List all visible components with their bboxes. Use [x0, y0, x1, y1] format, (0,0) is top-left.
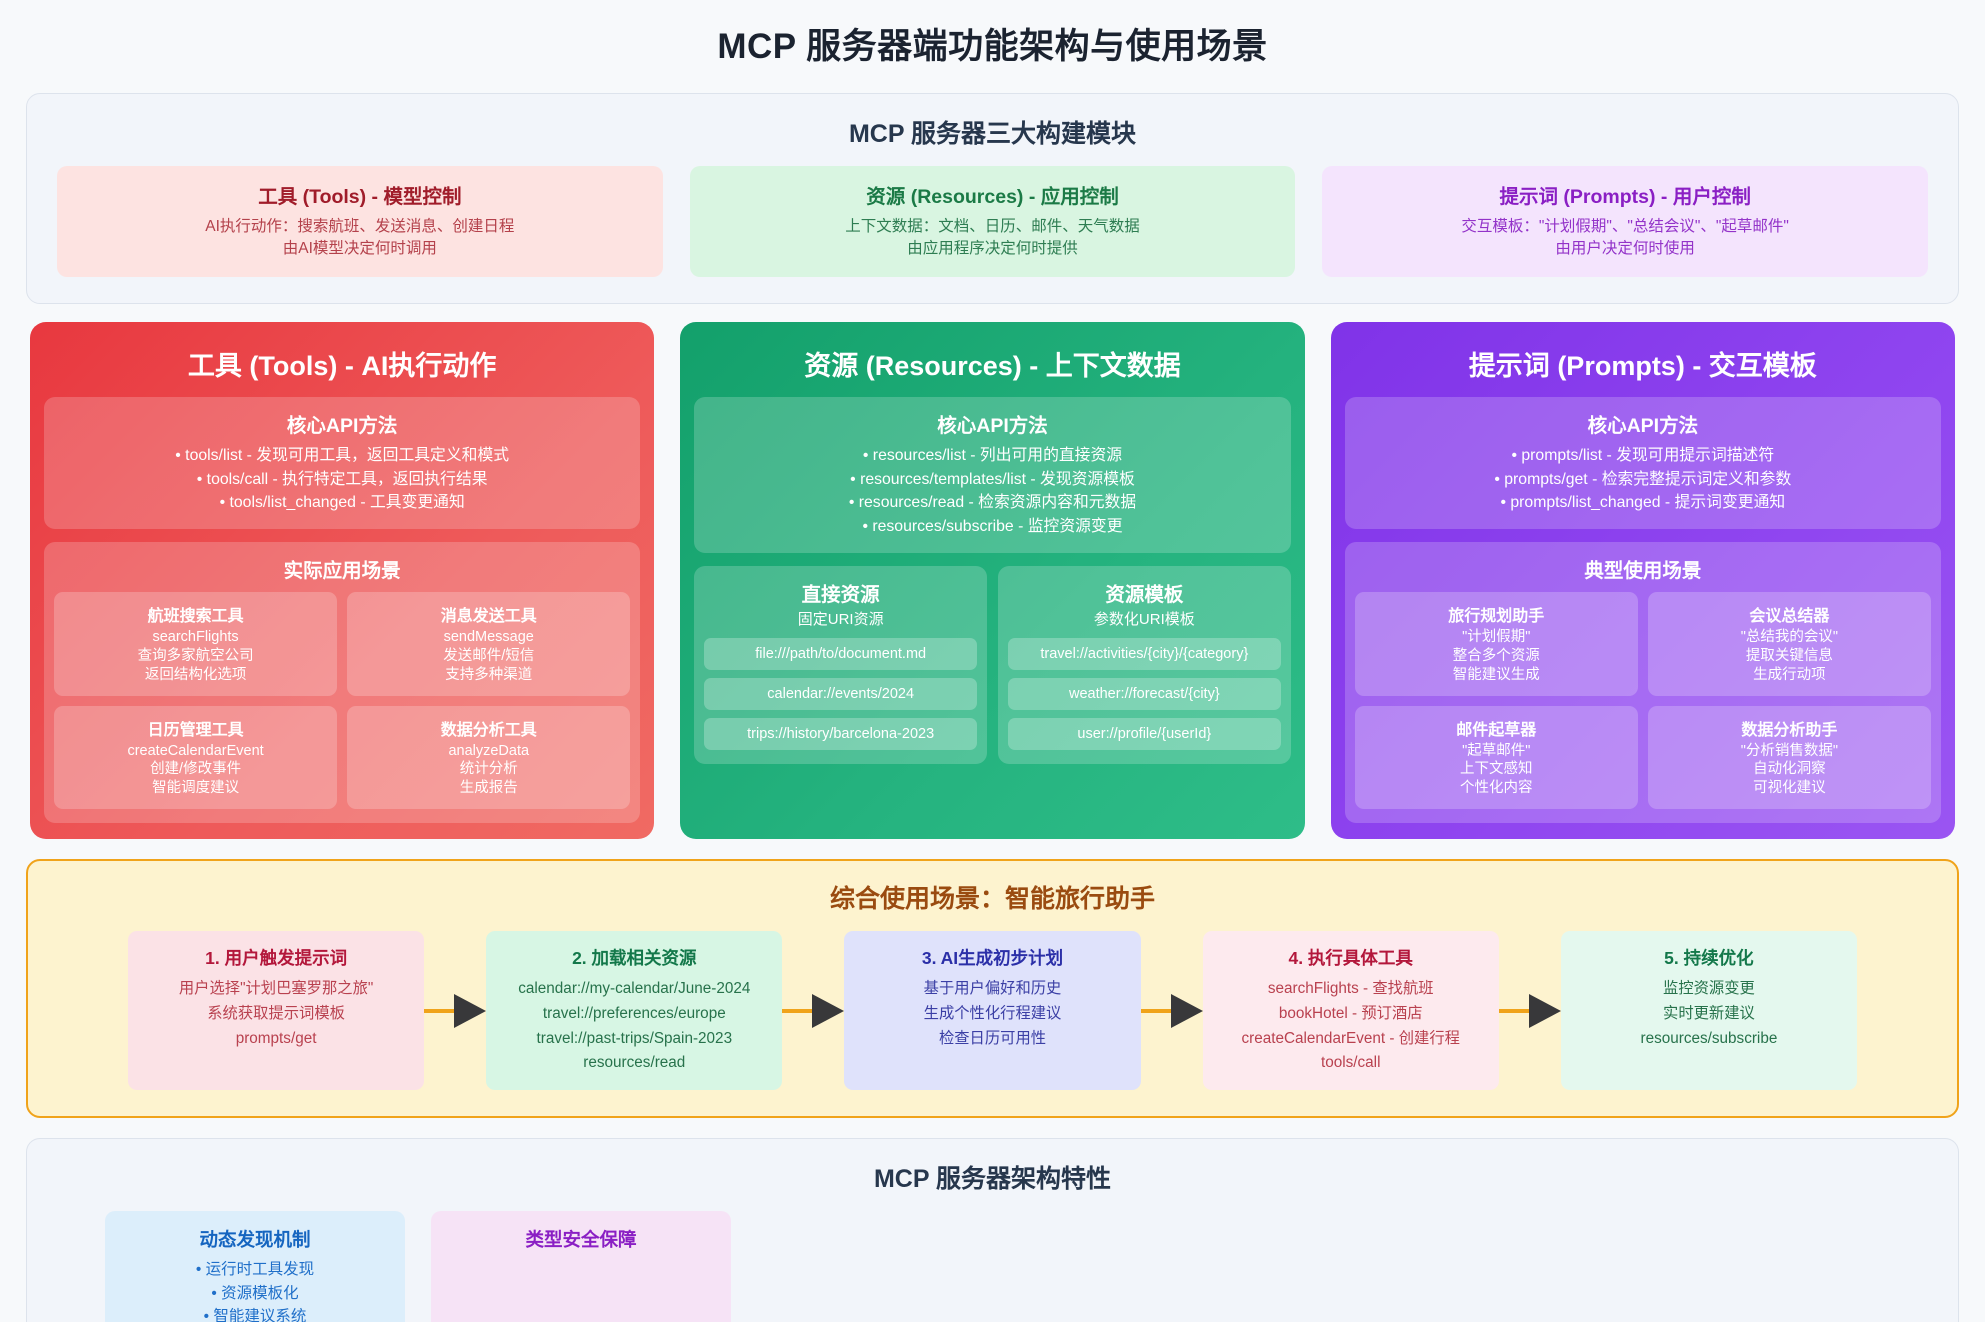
resources-api-item: • resources/subscribe - 监控资源变更	[704, 515, 1280, 539]
building-blocks-panel: MCP 服务器三大构建模块 工具 (Tools) - 模型控制 AI执行动作：搜…	[26, 93, 1959, 304]
tools-api-item: • tools/call - 执行特定工具，返回执行结果	[54, 468, 630, 492]
flow-panel: 综合使用场景：智能旅行助手 1. 用户触发提示词 用户选择"计划巴塞罗那之旅" …	[26, 859, 1959, 1118]
building-block-prompts: 提示词 (Prompts) - 用户控制 交互模板："计划假期"、"总结会议"、…	[1322, 166, 1928, 277]
scenario-title: 日历管理工具	[60, 716, 331, 740]
diagram-page: MCP 服务器端功能架构与使用场景 MCP 服务器三大构建模块 工具 (Tool…	[0, 0, 1985, 1322]
scenario-line: createCalendarEvent	[60, 742, 331, 761]
scenario-line: 返回结构化选项	[60, 666, 331, 685]
building-block-resources-title: 资源 (Resources) - 应用控制	[700, 180, 1286, 209]
flow-step-title: 3. AI生成初步计划	[852, 945, 1132, 970]
tools-api-list: • tools/list - 发现可用工具，返回工具定义和模式 • tools/…	[54, 444, 630, 515]
scenario-line: 生成报告	[353, 779, 624, 798]
scenario-line: 支持多种渠道	[353, 666, 624, 685]
flow-step-line: prompts/get	[136, 1027, 416, 1052]
resource-templates-panel: 资源模板 参数化URI模板 travel://activities/{city}…	[998, 566, 1291, 764]
scenario-title: 数据分析工具	[353, 716, 624, 740]
feature-card-dynamic-discovery: 动态发现机制 • 运行时工具发现 • 资源模板化 • 智能建议系统	[105, 1211, 405, 1322]
direct-resources-panel: 直接资源 固定URI资源 file:///path/to/document.md…	[694, 566, 987, 764]
flow-step-1: 1. 用户触发提示词 用户选择"计划巴塞罗那之旅" 系统获取提示词模板 prom…	[128, 931, 424, 1090]
flow-step-title: 1. 用户触发提示词	[136, 945, 416, 970]
column-tools: 工具 (Tools) - AI执行动作 核心API方法 • tools/list…	[30, 322, 654, 839]
flow-step-5: 5. 持续优化 监控资源变更 实时更新建议 resources/subscrib…	[1561, 931, 1857, 1090]
uri-chip: weather://forecast/{city}	[1008, 678, 1281, 710]
column-prompts-title: 提示词 (Prompts) - 交互模板	[1345, 336, 1941, 397]
scenario-line: "总结我的会议"	[1654, 628, 1925, 647]
scenario-card: 日历管理工具 createCalendarEvent 创建/修改事件 智能调度建…	[54, 706, 337, 810]
column-resources-title: 资源 (Resources) - 上下文数据	[694, 336, 1290, 397]
scenario-card: 数据分析工具 analyzeData 统计分析 生成报告	[347, 706, 630, 810]
building-block-tools-line1: AI执行动作：搜索航班、发送消息、创建日程	[67, 216, 653, 238]
building-block-prompts-line1: 交互模板："计划假期"、"总结会议"、"起草邮件"	[1332, 216, 1918, 238]
building-blocks-row: 工具 (Tools) - 模型控制 AI执行动作：搜索航班、发送消息、创建日程 …	[27, 166, 1958, 303]
uri-chip: trips://history/barcelona-2023	[704, 718, 977, 750]
arrow-head-icon	[812, 994, 844, 1028]
scenario-title: 消息发送工具	[353, 602, 624, 626]
scenario-line: analyzeData	[353, 742, 624, 761]
scenario-line: searchFlights	[60, 628, 331, 647]
scenario-line: 上下文感知	[1361, 760, 1632, 779]
prompts-scenarios-grid: 旅行规划助手 "计划假期" 整合多个资源 智能建议生成 会议总结器 "总结我的会…	[1355, 592, 1931, 809]
arrow-head-icon	[454, 994, 486, 1028]
building-block-resources-line2: 由应用程序决定何时提供	[700, 238, 1286, 260]
flow-step-line: travel://past-trips/Spain-2023	[494, 1027, 774, 1052]
uri-chip: calendar://events/2024	[704, 678, 977, 710]
features-title: MCP 服务器架构特性	[27, 1139, 1958, 1211]
resources-two-panels: 直接资源 固定URI资源 file:///path/to/document.md…	[694, 566, 1290, 764]
page-title: MCP 服务器端功能架构与使用场景	[26, 0, 1959, 93]
flow-step-line: searchFlights - 查找航班	[1211, 977, 1491, 1002]
scenario-line: 可视化建议	[1654, 779, 1925, 798]
scenario-line: sendMessage	[353, 628, 624, 647]
uri-chip: file:///path/to/document.md	[704, 638, 977, 670]
flow-step-line: resources/read	[494, 1051, 774, 1076]
column-prompts: 提示词 (Prompts) - 交互模板 核心API方法 • prompts/l…	[1331, 322, 1955, 839]
feature-card-title: 类型安全保障	[441, 1226, 721, 1252]
arrow-head-icon	[1171, 994, 1203, 1028]
scenario-title: 旅行规划助手	[1361, 602, 1632, 626]
prompts-scenarios-title: 典型使用场景	[1355, 554, 1931, 583]
flow-step-line: createCalendarEvent - 创建行程	[1211, 1027, 1491, 1052]
flow-step-line: 用户选择"计划巴塞罗那之旅"	[136, 977, 416, 1002]
tools-scenarios-panel: 实际应用场景 航班搜索工具 searchFlights 查询多家航空公司 返回结…	[44, 542, 640, 823]
tools-api-item: • tools/list_changed - 工具变更通知	[54, 491, 630, 515]
flow-step-line: tools/call	[1211, 1051, 1491, 1076]
scenario-line: 生成行动项	[1654, 666, 1925, 685]
direct-resources-subtitle: 固定URI资源	[704, 608, 977, 629]
flow-title: 综合使用场景：智能旅行助手	[28, 861, 1957, 931]
scenario-card: 消息发送工具 sendMessage 发送邮件/短信 支持多种渠道	[347, 592, 630, 696]
scenario-line: 发送邮件/短信	[353, 647, 624, 666]
scenario-line: 自动化洞察	[1654, 760, 1925, 779]
flow-step-4: 4. 执行具体工具 searchFlights - 查找航班 bookHotel…	[1203, 931, 1499, 1090]
column-resources: 资源 (Resources) - 上下文数据 核心API方法 • resourc…	[680, 322, 1304, 839]
building-block-tools-title: 工具 (Tools) - 模型控制	[67, 180, 653, 209]
scenario-card: 邮件起草器 "起草邮件" 上下文感知 个性化内容	[1355, 706, 1638, 810]
resources-api-item: • resources/list - 列出可用的直接资源	[704, 444, 1280, 468]
flow-step-title: 5. 持续优化	[1569, 945, 1849, 970]
flow-step-line: 监控资源变更	[1569, 977, 1849, 1002]
building-block-prompts-title: 提示词 (Prompts) - 用户控制	[1332, 180, 1918, 209]
prompts-api-item: • prompts/get - 检索完整提示词定义和参数	[1355, 468, 1931, 492]
scenario-line: 个性化内容	[1361, 779, 1632, 798]
scenario-card: 数据分析助手 "分析销售数据" 自动化洞察 可视化建议	[1648, 706, 1931, 810]
flow-row: 1. 用户触发提示词 用户选择"计划巴塞罗那之旅" 系统获取提示词模板 prom…	[28, 931, 1957, 1090]
prompts-api-panel: 核心API方法 • prompts/list - 发现可用提示词描述符 • pr…	[1345, 397, 1941, 529]
resource-templates-subtitle: 参数化URI模板	[1008, 608, 1281, 629]
feature-bullet: • 运行时工具发现	[115, 1258, 395, 1282]
scenario-line: "计划假期"	[1361, 628, 1632, 647]
scenario-line: 查询多家航空公司	[60, 647, 331, 666]
flow-step-line: 实时更新建议	[1569, 1002, 1849, 1027]
scenario-line: 整合多个资源	[1361, 647, 1632, 666]
flow-arrow-4	[1499, 931, 1561, 1090]
flow-step-title: 4. 执行具体工具	[1211, 945, 1491, 970]
building-block-resources-line1: 上下文数据：文档、日历、邮件、天气数据	[700, 216, 1286, 238]
features-row: 动态发现机制 • 运行时工具发现 • 资源模板化 • 智能建议系统 类型安全保障	[27, 1211, 1958, 1322]
feature-bullet: • 资源模板化	[115, 1282, 395, 1306]
tools-scenarios-grid: 航班搜索工具 searchFlights 查询多家航空公司 返回结构化选项 消息…	[54, 592, 630, 809]
feature-card-title: 动态发现机制	[115, 1226, 395, 1252]
scenario-line: 智能调度建议	[60, 779, 331, 798]
flow-arrow-1	[424, 931, 486, 1090]
flow-step-line: 检查日历可用性	[852, 1027, 1132, 1052]
prompts-api-list: • prompts/list - 发现可用提示词描述符 • prompts/ge…	[1355, 444, 1931, 515]
uri-chip: user://profile/{userId}	[1008, 718, 1281, 750]
building-blocks-title: MCP 服务器三大构建模块	[27, 94, 1958, 166]
building-block-prompts-line2: 由用户决定何时使用	[1332, 238, 1918, 260]
scenario-title: 数据分析助手	[1654, 716, 1925, 740]
column-tools-title: 工具 (Tools) - AI执行动作	[44, 336, 640, 397]
scenario-title: 航班搜索工具	[60, 602, 331, 626]
prompts-api-item: • prompts/list - 发现可用提示词描述符	[1355, 444, 1931, 468]
tools-api-panel: 核心API方法 • tools/list - 发现可用工具，返回工具定义和模式 …	[44, 397, 640, 529]
building-block-resources: 资源 (Resources) - 应用控制 上下文数据：文档、日历、邮件、天气数…	[690, 166, 1296, 277]
uri-chip: travel://activities/{city}/{category}	[1008, 638, 1281, 670]
building-block-tools-line2: 由AI模型决定何时调用	[67, 238, 653, 260]
flow-step-line: travel://preferences/europe	[494, 1002, 774, 1027]
scenario-line: 提取关键信息	[1654, 647, 1925, 666]
tools-scenarios-title: 实际应用场景	[54, 554, 630, 583]
prompts-api-title: 核心API方法	[1355, 409, 1931, 438]
flow-step-title: 2. 加载相关资源	[494, 945, 774, 970]
feature-bullet: • 智能建议系统	[115, 1305, 395, 1322]
scenario-line: "分析销售数据"	[1654, 742, 1925, 761]
flow-step-line: resources/subscribe	[1569, 1027, 1849, 1052]
flow-step-line: 生成个性化行程建议	[852, 1002, 1132, 1027]
scenario-title: 会议总结器	[1654, 602, 1925, 626]
scenario-line: 创建/修改事件	[60, 760, 331, 779]
flow-step-line: 基于用户偏好和历史	[852, 977, 1132, 1002]
flow-step-line: bookHotel - 预订酒店	[1211, 1002, 1491, 1027]
features-panel: MCP 服务器架构特性 动态发现机制 • 运行时工具发现 • 资源模板化 • 智…	[26, 1138, 1959, 1322]
prompts-api-item: • prompts/list_changed - 提示词变更通知	[1355, 491, 1931, 515]
flow-step-2: 2. 加载相关资源 calendar://my-calendar/June-20…	[486, 931, 782, 1090]
tools-api-item: • tools/list - 发现可用工具，返回工具定义和模式	[54, 444, 630, 468]
scenario-card: 旅行规划助手 "计划假期" 整合多个资源 智能建议生成	[1355, 592, 1638, 696]
feature-card-type-safety: 类型安全保障	[431, 1211, 731, 1322]
resources-api-title: 核心API方法	[704, 409, 1280, 438]
scenario-line: 统计分析	[353, 760, 624, 779]
arrow-head-icon	[1529, 994, 1561, 1028]
tools-api-title: 核心API方法	[54, 409, 630, 438]
resources-api-item: • resources/templates/list - 发现资源模板	[704, 468, 1280, 492]
scenario-line: 智能建议生成	[1361, 666, 1632, 685]
main-columns: 工具 (Tools) - AI执行动作 核心API方法 • tools/list…	[26, 322, 1959, 839]
flow-step-line: 系统获取提示词模板	[136, 1002, 416, 1027]
direct-resources-title: 直接资源	[704, 578, 977, 607]
scenario-line: "起草邮件"	[1361, 742, 1632, 761]
flow-arrow-3	[1141, 931, 1203, 1090]
prompts-scenarios-panel: 典型使用场景 旅行规划助手 "计划假期" 整合多个资源 智能建议生成 会议总结器…	[1345, 542, 1941, 823]
scenario-card: 航班搜索工具 searchFlights 查询多家航空公司 返回结构化选项	[54, 592, 337, 696]
resource-templates-title: 资源模板	[1008, 578, 1281, 607]
resources-api-list: • resources/list - 列出可用的直接资源 • resources…	[704, 444, 1280, 539]
scenario-title: 邮件起草器	[1361, 716, 1632, 740]
flow-step-3: 3. AI生成初步计划 基于用户偏好和历史 生成个性化行程建议 检查日历可用性	[844, 931, 1140, 1090]
flow-step-line: calendar://my-calendar/June-2024	[494, 977, 774, 1002]
resources-api-panel: 核心API方法 • resources/list - 列出可用的直接资源 • r…	[694, 397, 1290, 553]
scenario-card: 会议总结器 "总结我的会议" 提取关键信息 生成行动项	[1648, 592, 1931, 696]
building-block-tools: 工具 (Tools) - 模型控制 AI执行动作：搜索航班、发送消息、创建日程 …	[57, 166, 663, 277]
resources-api-item: • resources/read - 检索资源内容和元数据	[704, 491, 1280, 515]
flow-arrow-2	[782, 931, 844, 1090]
